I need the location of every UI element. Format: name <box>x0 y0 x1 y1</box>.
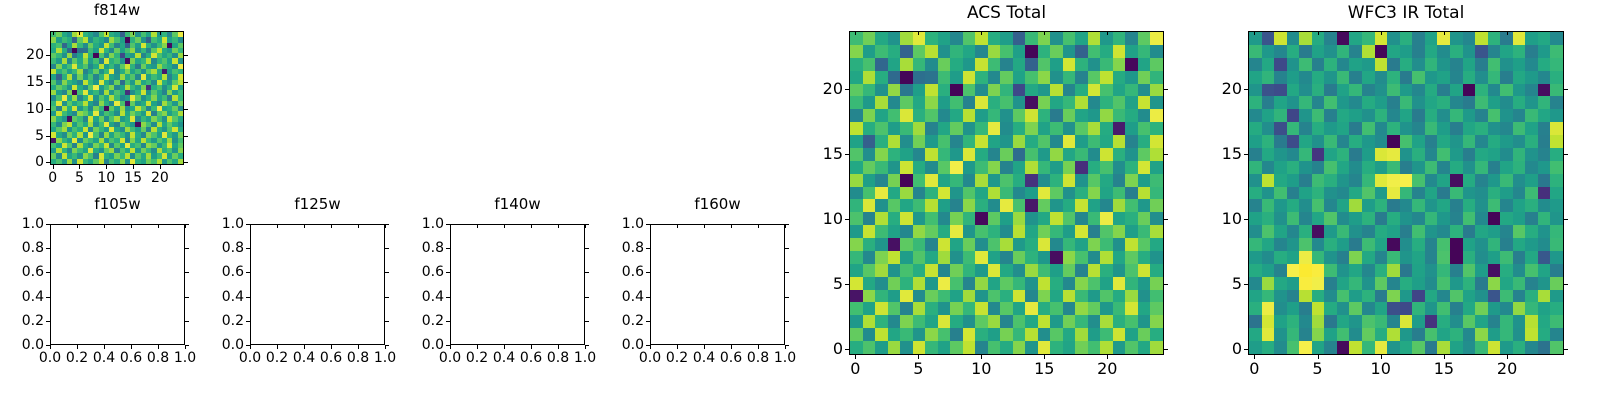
heatmap-cell <box>1249 122 1262 135</box>
heatmap-cell <box>1538 45 1551 58</box>
heatmap-cell <box>1362 212 1375 225</box>
heatmap-cell <box>1387 238 1400 251</box>
heatmap-cell <box>1312 45 1325 58</box>
heatmap-cell <box>1550 302 1563 315</box>
heatmap-cell <box>913 187 926 200</box>
heatmap-cell <box>1538 148 1551 161</box>
heatmap-cell <box>1538 109 1551 122</box>
heatmap-cell <box>1375 315 1388 328</box>
heatmap-cell <box>1475 58 1488 71</box>
y-tick-mark <box>446 272 450 273</box>
heatmap-cell <box>1138 96 1151 109</box>
heatmap-cell <box>950 328 963 341</box>
heatmap-cell <box>1262 328 1275 341</box>
x-tick-label: 15 <box>1009 361 1079 377</box>
heatmap-cell <box>1013 199 1026 212</box>
heatmap-cell <box>963 109 976 122</box>
heatmap-cell <box>1437 187 1450 200</box>
heatmap-cell <box>1538 32 1551 45</box>
heatmap-cell <box>1550 122 1563 135</box>
plot-area-f814w[interactable] <box>50 31 184 165</box>
heatmap-cell <box>1488 58 1501 71</box>
y-tick-label: 1.0 <box>564 217 644 231</box>
x-tick-mark <box>158 345 159 349</box>
heatmap-cell <box>1312 225 1325 238</box>
heatmap-cell <box>1538 251 1551 264</box>
heatmap-cell <box>1274 174 1287 187</box>
heatmap-cell <box>975 212 988 225</box>
heatmap-cell <box>1488 84 1501 97</box>
x-tick-label: 5 <box>883 361 953 377</box>
heatmap-cell <box>1125 148 1138 161</box>
heatmap-cell <box>1375 148 1388 161</box>
heatmap-cell <box>888 225 901 238</box>
heatmap-cell <box>1463 122 1476 135</box>
heatmap-cell <box>1375 96 1388 109</box>
heatmap-cell <box>1113 174 1126 187</box>
x-tick-mark-top <box>1254 31 1255 35</box>
heatmap-cell <box>1400 225 1413 238</box>
heatmap-cell <box>1100 277 1113 290</box>
heatmap-cell <box>1324 122 1337 135</box>
heatmap-cell <box>850 109 863 122</box>
heatmap-cell <box>1513 161 1526 174</box>
heatmap-cell <box>1312 315 1325 328</box>
heatmap-cell <box>1324 212 1337 225</box>
heatmap-cell <box>1463 277 1476 290</box>
heatmap-cell <box>950 302 963 315</box>
heatmap-cell <box>1337 238 1350 251</box>
heatmap-cell <box>1287 84 1300 97</box>
x-tick-mark <box>331 345 332 349</box>
heatmap-cell <box>1138 32 1151 45</box>
heatmap-cell <box>1400 277 1413 290</box>
heatmap-cell <box>1475 109 1488 122</box>
heatmap-cell <box>1000 277 1013 290</box>
heatmap-cell <box>1387 199 1400 212</box>
heatmap-cell <box>888 135 901 148</box>
heatmap-cell <box>1063 199 1076 212</box>
heatmap-cell <box>1025 302 1038 315</box>
heatmap-cell <box>1262 251 1275 264</box>
heatmap-cell <box>1550 148 1563 161</box>
heatmap-cell <box>1324 251 1337 264</box>
heatmap-cell <box>1450 58 1463 71</box>
heatmap-cell <box>1088 84 1101 97</box>
x-tick-mark-top <box>450 224 451 228</box>
heatmap-cell <box>963 122 976 135</box>
x-tick-mark <box>304 345 305 349</box>
heatmap-cell <box>1450 161 1463 174</box>
y-tick-mark <box>646 272 650 273</box>
heatmap-cell <box>1075 58 1088 71</box>
heatmap-cell <box>1425 58 1438 71</box>
heatmap-cell <box>1088 251 1101 264</box>
heatmap-cell <box>925 71 938 84</box>
heatmap-cell <box>1138 84 1151 97</box>
y-tick-mark <box>1244 219 1248 220</box>
y-tick-mark <box>46 136 50 137</box>
heatmap-cell <box>875 341 888 354</box>
heatmap-cell <box>875 290 888 303</box>
heatmap-cell <box>975 264 988 277</box>
heatmap-cell <box>1274 315 1287 328</box>
heatmap-cell <box>850 84 863 97</box>
heatmap-cell <box>1362 251 1375 264</box>
y-tick-mark-right <box>785 272 789 273</box>
heatmap-cell <box>1500 161 1513 174</box>
heatmap-cell <box>1362 135 1375 148</box>
heatmap-cell <box>1249 251 1262 264</box>
heatmap-cell <box>925 328 938 341</box>
heatmap-cell <box>963 135 976 148</box>
heatmap-cell <box>1050 84 1063 97</box>
heatmap-cell <box>1463 71 1476 84</box>
heatmap-cell <box>1550 238 1563 251</box>
heatmap-cell <box>1025 174 1038 187</box>
heatmap-cell <box>1038 251 1051 264</box>
heatmap-cell <box>1525 161 1538 174</box>
heatmap-cell <box>1463 135 1476 148</box>
y-tick-mark <box>46 345 50 346</box>
heatmap-cell <box>938 212 951 225</box>
heatmap-cell <box>888 238 901 251</box>
heatmap-cell <box>950 32 963 45</box>
heatmap-cell <box>1125 238 1138 251</box>
y-tick-label: 5 <box>0 129 44 143</box>
heatmap-cell <box>1513 32 1526 45</box>
heatmap-cell <box>963 277 976 290</box>
heatmap-cell <box>1450 187 1463 200</box>
heatmap-cell <box>950 96 963 109</box>
heatmap-cell <box>863 277 876 290</box>
y-tick-mark <box>246 345 250 346</box>
heatmap-cell <box>1324 290 1337 303</box>
heatmap-cell <box>1038 199 1051 212</box>
heatmap-cell <box>1425 277 1438 290</box>
heatmap-cell <box>1312 122 1325 135</box>
heatmap-cell <box>1038 290 1051 303</box>
heatmap-cell <box>1075 212 1088 225</box>
x-tick-mark <box>531 345 532 349</box>
heatmap-cell <box>1475 199 1488 212</box>
heatmap-cell <box>900 84 913 97</box>
heatmap-cell <box>1349 161 1362 174</box>
heatmap-cell <box>925 122 938 135</box>
heatmap-cell <box>1299 58 1312 71</box>
heatmap-cell <box>1538 187 1551 200</box>
heatmap-cell <box>1075 328 1088 341</box>
heatmap-cell <box>1525 122 1538 135</box>
heatmap-cell <box>913 315 926 328</box>
heatmap-cell <box>1287 341 1300 354</box>
x-tick-mark <box>53 165 54 169</box>
x-tick-label: 1.0 <box>550 351 620 365</box>
heatmap-cell <box>950 84 963 97</box>
heatmap-cell <box>1362 71 1375 84</box>
heatmap-cell <box>950 264 963 277</box>
heatmap-cell <box>1349 225 1362 238</box>
heatmap-cell <box>1425 264 1438 277</box>
heatmap-cell <box>1412 212 1425 225</box>
heatmap-cell <box>1525 58 1538 71</box>
heatmap-cell <box>1287 264 1300 277</box>
heatmap-cell <box>1100 212 1113 225</box>
heatmap-cell <box>1387 32 1400 45</box>
x-tick-mark-top <box>731 224 732 228</box>
heatmap-cell <box>1038 174 1051 187</box>
heatmap-cell <box>1138 161 1151 174</box>
heatmap-cell <box>1475 122 1488 135</box>
heatmap-cell <box>1425 84 1438 97</box>
heatmap-cell <box>950 174 963 187</box>
y-tick-mark <box>446 297 450 298</box>
heatmap-cell <box>850 264 863 277</box>
heatmap-cell <box>900 315 913 328</box>
heatmap-cell <box>913 251 926 264</box>
heatmap-cell <box>1375 225 1388 238</box>
heatmap-cell <box>1400 328 1413 341</box>
heatmap-cell <box>888 277 901 290</box>
heatmap-cell <box>950 212 963 225</box>
heatmap-cell <box>1038 122 1051 135</box>
heatmap-cell <box>1525 238 1538 251</box>
y-tick-mark <box>246 224 250 225</box>
heatmap-cell <box>1125 45 1138 58</box>
x-tick-mark-top <box>304 224 305 228</box>
heatmap-cell <box>1075 109 1088 122</box>
y-tick-mark <box>46 248 50 249</box>
heatmap-cell <box>1463 84 1476 97</box>
heatmap-cell <box>863 328 876 341</box>
heatmap-cell <box>1312 148 1325 161</box>
x-tick-label: 20 <box>1072 361 1142 377</box>
heatmap-cell <box>1349 238 1362 251</box>
heatmap-cell <box>1088 187 1101 200</box>
heatmap-cell <box>1287 45 1300 58</box>
heatmap-cell <box>1475 96 1488 109</box>
heatmap-cell <box>913 328 926 341</box>
heatmap-cell <box>925 187 938 200</box>
heatmap-cell <box>1088 32 1101 45</box>
heatmap-cell <box>1349 277 1362 290</box>
heatmap-cell <box>1125 225 1138 238</box>
y-tick-label: 1.0 <box>0 217 44 231</box>
heatmap-cell <box>1050 328 1063 341</box>
heatmap-cell <box>900 251 913 264</box>
heatmap-cell <box>1274 277 1287 290</box>
heatmap-cell <box>1287 277 1300 290</box>
heatmap-cell <box>1050 290 1063 303</box>
heatmap-cell <box>1387 71 1400 84</box>
x-tick-mark-top <box>1444 31 1445 35</box>
plot-area-acs-total[interactable] <box>849 31 1164 355</box>
heatmap-cell <box>1488 328 1501 341</box>
heatmap-cell <box>1437 161 1450 174</box>
heatmap-cell <box>1075 277 1088 290</box>
heatmap-cell <box>1488 135 1501 148</box>
heatmap-cell <box>863 45 876 58</box>
heatmap-cell <box>1513 45 1526 58</box>
x-tick-mark-top <box>918 31 919 35</box>
heatmap-cell <box>1513 109 1526 122</box>
heatmap-cell <box>1000 122 1013 135</box>
heatmap-cell <box>1525 341 1538 354</box>
heatmap-cell <box>950 45 963 58</box>
heatmap-cell <box>900 328 913 341</box>
x-tick-mark-top <box>981 31 982 35</box>
heatmap-cell <box>1075 122 1088 135</box>
heatmap-cell <box>975 84 988 97</box>
heatmap-cell <box>1299 315 1312 328</box>
heatmap-cell <box>1125 135 1138 148</box>
heatmap-cell <box>938 187 951 200</box>
heatmap-cell <box>925 199 938 212</box>
heatmap-cell <box>1249 71 1262 84</box>
heatmap-cell <box>1050 199 1063 212</box>
heatmap-cell <box>1437 84 1450 97</box>
heatmap-cell <box>938 135 951 148</box>
heatmap-cell <box>900 187 913 200</box>
heatmap-cell <box>925 315 938 328</box>
heatmap-cell <box>1550 161 1563 174</box>
y-tick-mark-right <box>1564 219 1568 220</box>
heatmap-cell <box>1387 212 1400 225</box>
heatmap-acs-total <box>850 32 1163 354</box>
heatmap-cell <box>888 174 901 187</box>
heatmap-cell <box>850 58 863 71</box>
heatmap-cell <box>1412 135 1425 148</box>
heatmap-cell <box>1138 199 1151 212</box>
heatmap-cell <box>1538 290 1551 303</box>
heatmap-cell <box>1337 264 1350 277</box>
heatmap-cell <box>1513 264 1526 277</box>
heatmap-cell <box>1538 84 1551 97</box>
heatmap-cell <box>1063 302 1076 315</box>
heatmap-cell <box>1437 251 1450 264</box>
heatmap-cell <box>888 71 901 84</box>
heatmap-cell <box>913 45 926 58</box>
heatmap-cell <box>1500 58 1513 71</box>
heatmap-cell <box>988 328 1001 341</box>
heatmap-cell <box>913 199 926 212</box>
heatmap-cell <box>1088 341 1101 354</box>
heatmap-cell <box>1475 161 1488 174</box>
heatmap-cell <box>988 187 1001 200</box>
heatmap-cell <box>1463 148 1476 161</box>
heatmap-cell <box>988 122 1001 135</box>
x-tick-label: 15 <box>1409 361 1479 377</box>
heatmap-cell <box>1274 199 1287 212</box>
heatmap-cell <box>950 109 963 122</box>
heatmap-cell <box>975 341 988 354</box>
heatmap-cell <box>1337 174 1350 187</box>
heatmap-cell <box>863 32 876 45</box>
heatmap-cell <box>850 290 863 303</box>
heatmap-cell <box>1299 238 1312 251</box>
heatmap-cell <box>1150 174 1163 187</box>
heatmap-cell <box>975 187 988 200</box>
heatmap-cell <box>1488 45 1501 58</box>
heatmap-cell <box>1437 58 1450 71</box>
heatmap-cell <box>1475 32 1488 45</box>
heatmap-cell <box>1349 96 1362 109</box>
heatmap-cell <box>988 251 1001 264</box>
heatmap-cell <box>1463 315 1476 328</box>
heatmap-cell <box>913 212 926 225</box>
heatmap-cell <box>1387 148 1400 161</box>
x-tick-label: 10 <box>946 361 1016 377</box>
heatmap-cell <box>1299 199 1312 212</box>
y-tick-label: 20 <box>763 81 843 97</box>
heatmap-cell <box>1150 302 1163 315</box>
heatmap-cell <box>1387 290 1400 303</box>
heatmap-cell <box>1088 161 1101 174</box>
heatmap-cell <box>1488 251 1501 264</box>
heatmap-cell <box>1324 328 1337 341</box>
y-tick-mark <box>46 109 50 110</box>
heatmap-cell <box>1387 161 1400 174</box>
y-tick-mark <box>46 55 50 56</box>
heatmap-cell <box>1463 238 1476 251</box>
heatmap-cell <box>1125 122 1138 135</box>
heatmap-cell <box>1400 71 1413 84</box>
heatmap-cell <box>1013 122 1026 135</box>
heatmap-cell <box>1063 264 1076 277</box>
heatmap-cell <box>1249 212 1262 225</box>
y-tick-mark <box>1244 284 1248 285</box>
heatmap-cell <box>1063 174 1076 187</box>
heatmap-cell <box>1349 45 1362 58</box>
heatmap-cell <box>1500 302 1513 315</box>
heatmap-cell <box>988 315 1001 328</box>
heatmap-cell <box>1262 225 1275 238</box>
heatmap-cell <box>863 148 876 161</box>
heatmap-cell <box>875 302 888 315</box>
heatmap-cell <box>1513 225 1526 238</box>
heatmap-cell <box>1100 135 1113 148</box>
heatmap-cell <box>1312 58 1325 71</box>
heatmap-cell <box>913 341 926 354</box>
heatmap-cell <box>1274 187 1287 200</box>
heatmap-cell <box>1100 45 1113 58</box>
heatmap-cell <box>1013 277 1026 290</box>
plot-area-wfc3-ir-total[interactable] <box>1248 31 1564 355</box>
heatmap-cell <box>1025 315 1038 328</box>
x-tick-mark-top <box>331 224 332 228</box>
heatmap-cell <box>1100 174 1113 187</box>
heatmap-cell <box>1050 315 1063 328</box>
heatmap-cell <box>1013 251 1026 264</box>
heatmap-cell <box>1525 277 1538 290</box>
heatmap-cell <box>1450 251 1463 264</box>
heatmap-cell <box>1450 109 1463 122</box>
heatmap-cell <box>1113 45 1126 58</box>
heatmap-cell <box>1100 328 1113 341</box>
y-tick-label: 0.2 <box>0 314 44 328</box>
heatmap-cell <box>1337 290 1350 303</box>
heatmap-cell <box>1375 174 1388 187</box>
heatmap-cell <box>1387 84 1400 97</box>
heatmap-cell <box>1362 277 1375 290</box>
y-tick-mark <box>46 297 50 298</box>
heatmap-cell <box>1400 199 1413 212</box>
heatmap-cell <box>1550 328 1563 341</box>
heatmap-cell <box>1387 225 1400 238</box>
x-tick-mark-top <box>53 31 54 35</box>
heatmap-cell <box>1312 238 1325 251</box>
heatmap-cell <box>1299 148 1312 161</box>
